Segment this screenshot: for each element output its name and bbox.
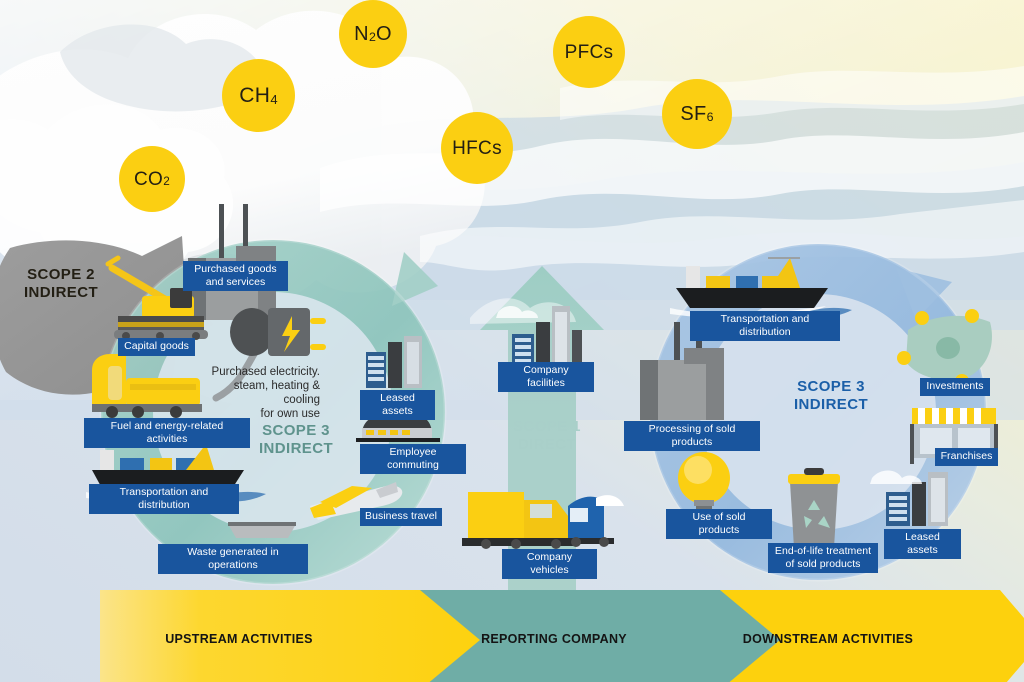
callout-transportation-and-distribution-upstream[interactable]: Transportation and distribution	[89, 484, 239, 514]
recycling-bin-icon	[788, 468, 840, 548]
banner-label-reporting-company[interactable]: REPORTING COMPANY	[414, 632, 694, 646]
annotation-purchased-electricity-note: Purchased electricity. steam, heating & …	[195, 365, 320, 421]
gas-formula-hfcs: HFCs	[452, 139, 502, 158]
callout-processing-of-sold-products[interactable]: Processing of sold products	[624, 421, 760, 451]
gas-bubble-sf6: SF6	[662, 79, 732, 149]
callout-company-facilities[interactable]: Company facilities	[498, 362, 594, 392]
gas-formula-co2: CO	[134, 170, 163, 189]
gas-bubble-n2o: N2O	[339, 0, 407, 68]
callout-waste-generated-in-operations[interactable]: Waste generated in operations	[158, 544, 308, 574]
gas-subscript-sf6: 6	[707, 111, 714, 123]
callout-end-of-life-treatment-of-sold-products[interactable]: End-of-life treatment of sold products	[768, 543, 878, 573]
callout-transportation-and-distribution-downstream[interactable]: Transportation and distribution	[690, 311, 840, 341]
gas-formula-pfcs: PFCs	[565, 43, 614, 62]
callout-franchises[interactable]: Franchises	[935, 448, 998, 466]
callout-company-vehicles[interactable]: Company vehicles	[502, 549, 597, 579]
gas-formula-ch4: CH	[239, 85, 270, 106]
callout-investments[interactable]: Investments	[920, 378, 990, 396]
scope-2-indirect-title: SCOPE 2 INDIRECT	[16, 266, 106, 302]
callout-leased-assets-downstream[interactable]: Leased assets	[884, 529, 961, 559]
scope-1-direct-title: SCOPE 1 DIRECT	[501, 418, 593, 454]
gas-subscript-n2o: 2	[369, 31, 376, 43]
gas-bubble-co2: CO2	[119, 146, 185, 212]
callout-use-of-sold-products[interactable]: Use of sold products	[666, 509, 772, 539]
banner-label-downstream-activities[interactable]: DOWNSTREAM ACTIVITIES	[688, 632, 968, 646]
callout-capital-goods[interactable]: Capital goods	[118, 338, 195, 356]
gas-bubble-ch4: CH4	[222, 59, 295, 132]
ghg-scopes-diagram: CO2CH4N2OHFCsPFCsSF6 SCOPE 2 INDIRECTSCO…	[0, 0, 1024, 682]
gas-formula-sf6: SF	[680, 104, 706, 124]
gas-formula-n2o: N	[354, 24, 369, 44]
callout-employee-commuting[interactable]: Employee commuting	[360, 444, 466, 474]
gas-bubble-pfcs: PFCs	[553, 16, 625, 88]
gas-subscript-co2: 2	[163, 176, 170, 188]
callout-leased-assets-upstream[interactable]: Leased assets	[360, 390, 435, 420]
gas-suffix-n2o: O	[376, 24, 392, 44]
waste-skip-icon	[228, 522, 296, 538]
gas-bubble-hfcs: HFCs	[441, 112, 513, 184]
scope-3-downstream-title: SCOPE 3 INDIRECT	[783, 378, 879, 414]
scope-3-upstream-title: SCOPE 3 INDIRECT	[250, 422, 342, 458]
gas-subscript-ch4: 4	[270, 93, 278, 106]
callout-fuel-and-energy-related-activities[interactable]: Fuel and energy-related activities	[84, 418, 250, 448]
banner-label-upstream-activities[interactable]: UPSTREAM ACTIVITIES	[99, 632, 379, 646]
callout-purchased-goods-and-services[interactable]: Purchased goods and services	[183, 261, 288, 291]
callout-business-travel[interactable]: Business travel	[360, 508, 442, 526]
